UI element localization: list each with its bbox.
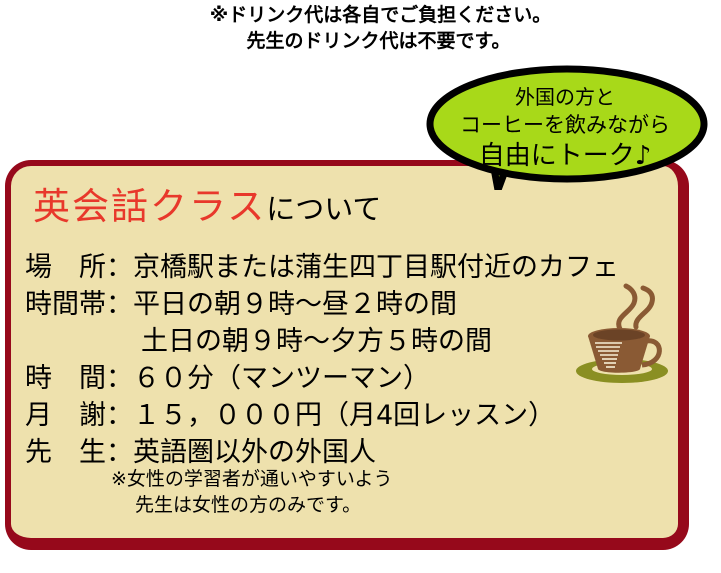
card-inner: 英会話クラスについて 場 所：京橋駅または蒲生四丁目駅付近のカフェ 時間帯：平日… [11,166,678,538]
coffee-cup-icon [564,281,684,389]
bubble-text: 外国の方と コーヒーを飲みながら 自由にトーク♪ [420,84,710,173]
top-notice: ※ドリンク代は各自でご負担ください。 先生のドリンク代は不要です。 [0,2,721,54]
page-title-suffix: について [266,192,381,226]
page-title-main: 英会話クラス [33,185,266,228]
speech-bubble: 外国の方と コーヒーを飲みながら 自由にトーク♪ [420,62,721,190]
bubble-line-3: 自由にトーク♪ [420,140,710,173]
card-footnote: ※女性の学習者が通いやすいよう 先生は女性の方のみです。 [111,466,393,518]
footnote-line-2: 先生は女性の方のみです。 [111,492,393,518]
detail-row: 月 謝：１５，０００円（月4回レッスン） [25,397,665,434]
footnote-line-1: ※女性の学習者が通いやすいよう [111,466,393,492]
class-info-card: 英会話クラスについて 場 所：京橋駅または蒲生四丁目駅付近のカフェ 時間帯：平日… [5,160,689,550]
page-title: 英会話クラスについて [33,188,381,225]
notice-line-1: ※ドリンク代は各自でご負担ください。 [0,2,721,28]
notice-line-2: 先生のドリンク代は不要です。 [0,28,721,54]
bubble-line-2: コーヒーを飲みながら [420,111,710,140]
bubble-line-1: 外国の方と [420,84,710,111]
